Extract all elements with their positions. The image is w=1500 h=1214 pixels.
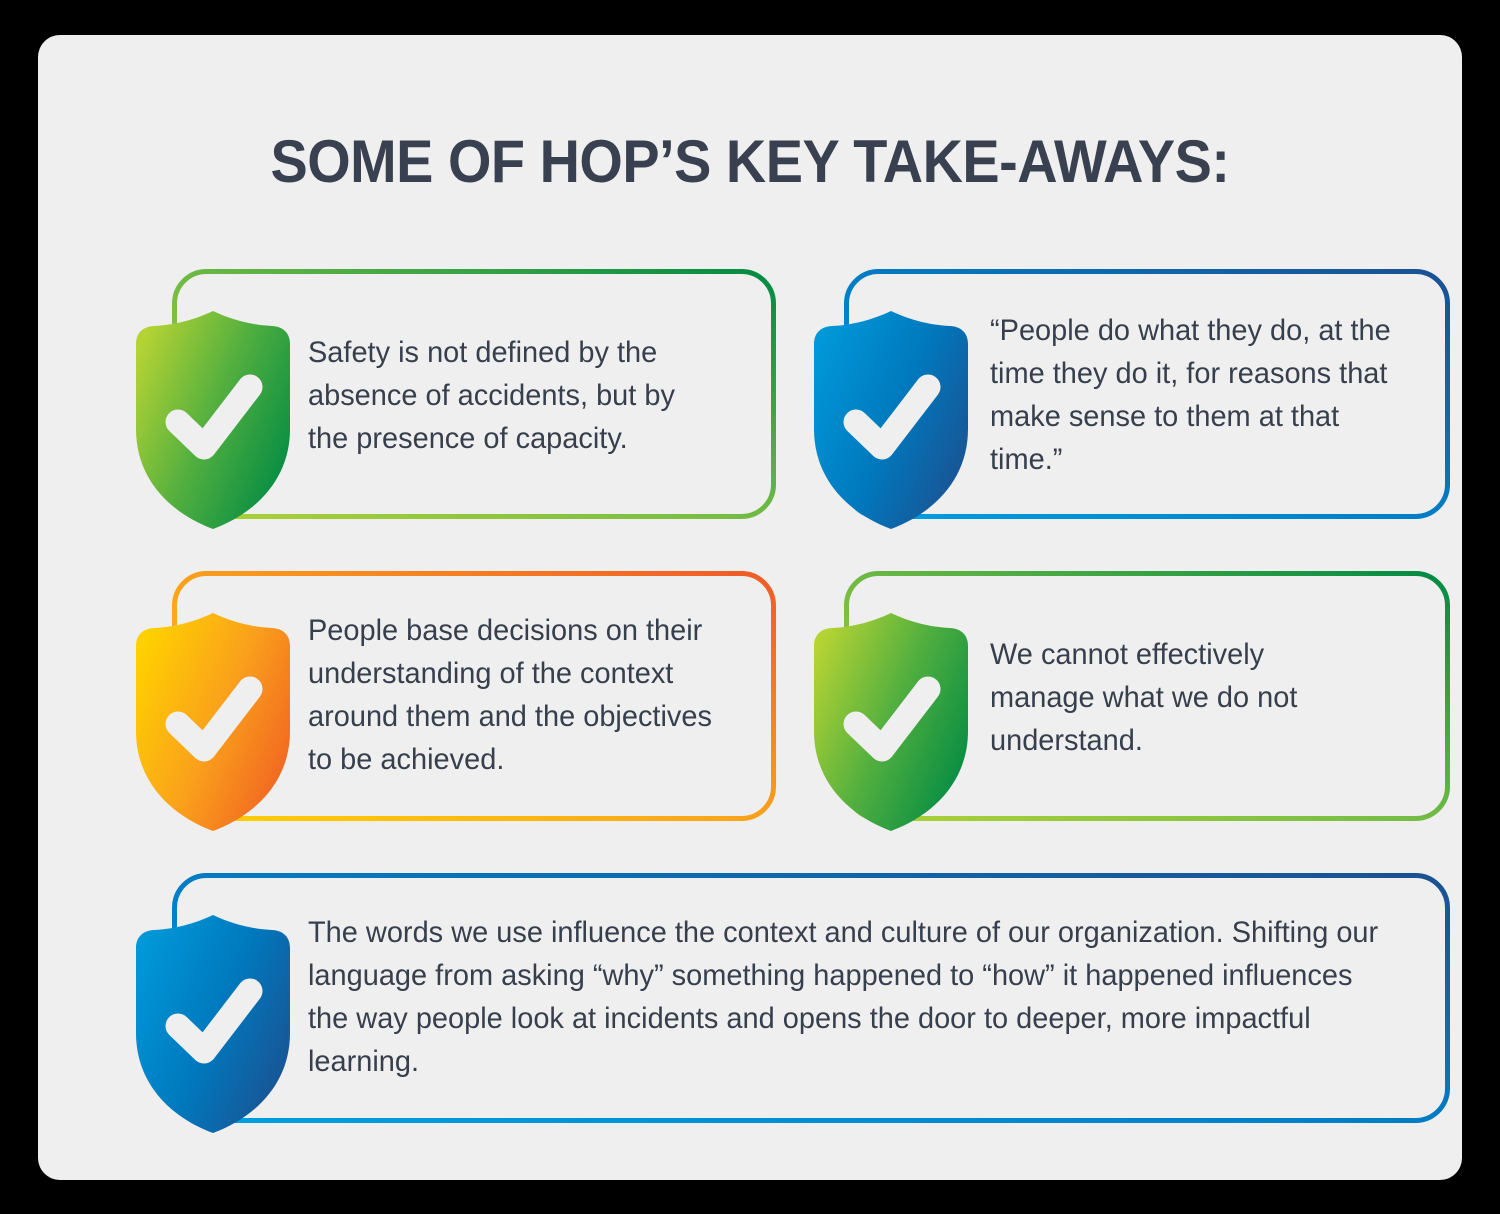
- card-text: “People do what they do, at the time the…: [990, 309, 1407, 481]
- shield-check-icon: [136, 311, 290, 529]
- takeaway-card-1: Safety is not defined by the absence of …: [172, 269, 776, 519]
- page-title: SOME OF HOP’S KEY TAKE-AWAYS:: [88, 127, 1412, 196]
- shield-check-icon: [814, 613, 968, 831]
- card-text: We cannot effectively manage what we do …: [990, 633, 1376, 762]
- takeaway-card-4: We cannot effectively manage what we do …: [844, 571, 1450, 821]
- shield-check-icon: [136, 915, 290, 1133]
- card-text: People base decisions on their understan…: [308, 609, 742, 781]
- takeaway-card-2: “People do what they do, at the time the…: [844, 269, 1450, 519]
- content-panel: SOME OF HOP’S KEY TAKE-AWAYS:: [38, 35, 1462, 1180]
- card-text: Safety is not defined by the absence of …: [308, 331, 723, 460]
- takeaway-card-3: People base decisions on their understan…: [172, 571, 776, 821]
- card-text: The words we use influence the context a…: [308, 911, 1395, 1083]
- takeaway-card-5: The words we use influence the context a…: [172, 873, 1450, 1123]
- shield-check-icon: [814, 311, 968, 529]
- infographic-canvas: SOME OF HOP’S KEY TAKE-AWAYS:: [0, 0, 1500, 1214]
- shield-check-icon: [136, 613, 290, 831]
